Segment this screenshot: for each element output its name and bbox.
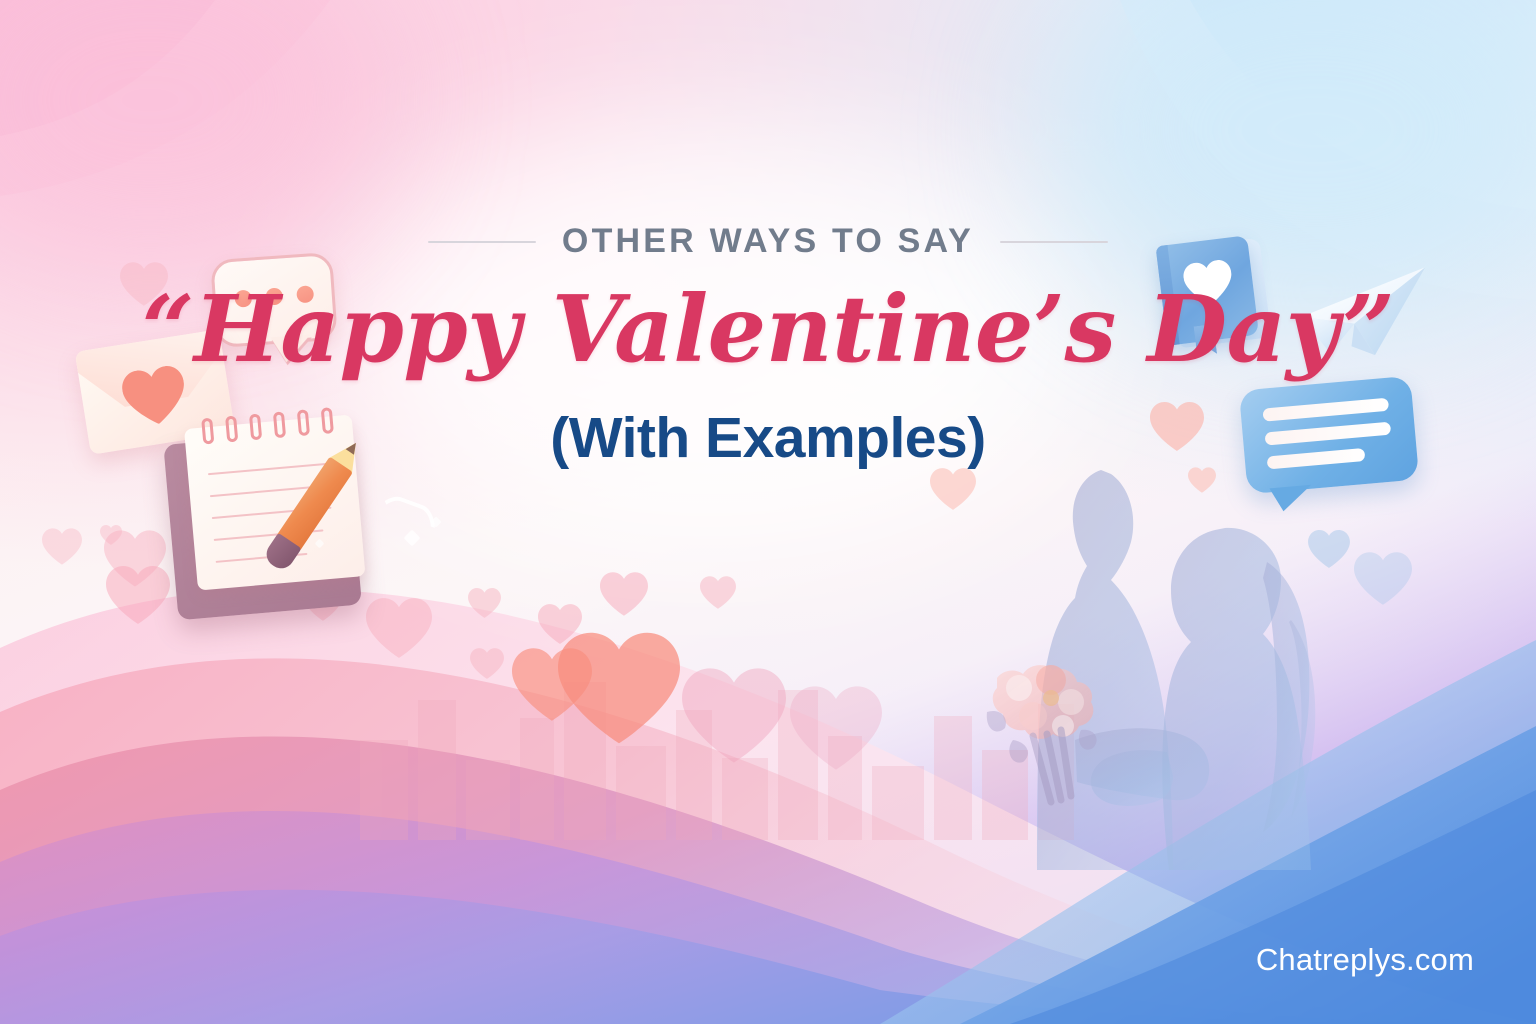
banner-content: OTHER WAYS TO SAY “Happy Valentine’s Day… xyxy=(0,0,1536,1024)
eyebrow-text: OTHER WAYS TO SAY xyxy=(562,222,974,261)
valentines-banner: OTHER WAYS TO SAY “Happy Valentine’s Day… xyxy=(0,0,1536,1024)
eyebrow-rule-right xyxy=(1000,241,1108,243)
page-title: “Happy Valentine’s Day” xyxy=(142,275,1395,383)
page-subtitle: (With Examples) xyxy=(550,405,985,471)
eyebrow-rule-left xyxy=(428,241,536,243)
eyebrow-row: OTHER WAYS TO SAY xyxy=(428,222,1108,261)
site-watermark: Chatreplys.com xyxy=(1256,942,1474,978)
